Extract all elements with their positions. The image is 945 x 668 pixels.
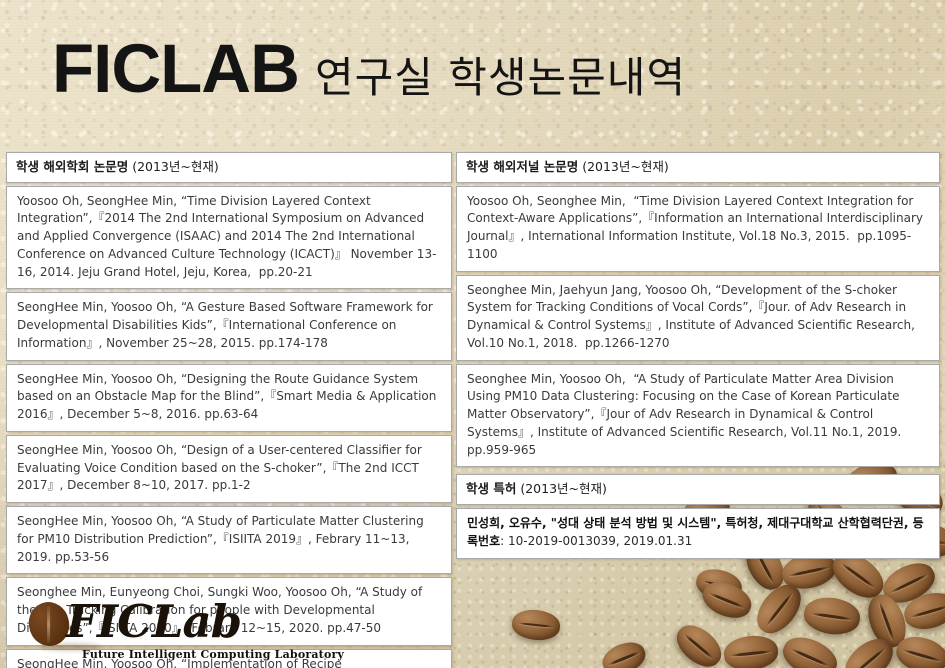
patent-header-label: 학생 특허	[466, 481, 516, 496]
journal-entry-text: Yoosoo Oh, Seonghee Min, “Time Division …	[467, 193, 930, 264]
table-row[interactable]: Yoosoo Oh, Seonghee Min, “Time Division …	[456, 186, 940, 272]
patent-header-period: (2013년~현재)	[516, 481, 607, 496]
conference-header-label: 학생 해외학회 논문명	[16, 159, 128, 174]
slide-canvas: FICLAB 연구실 학생논문내역 학생 해외학회 논문명 (2013년~현재)…	[0, 0, 945, 668]
journal-entry-text: Seonghee Min, Yoosoo Oh, “A Study of Par…	[467, 371, 930, 460]
patent-entry-number: : 10-2019-0013039, 2019.01.31	[500, 534, 692, 548]
conference-entry-text: SeongHee Min, Yoosoo Oh, “Design of a Us…	[17, 442, 442, 495]
table-row[interactable]: Yoosoo Oh, SeongHee Min, “Time Division …	[6, 186, 452, 290]
conference-entry-text: SeongHee Min, Yoosoo Oh, “Designing the …	[17, 371, 442, 424]
journal-section-header: 학생 해외저널 논문명 (2013년~현재)	[456, 152, 940, 183]
conference-entry-text: Yoosoo Oh, SeongHee Min, “Time Division …	[17, 193, 442, 282]
table-row[interactable]: SeongHee Min, Yoosoo Oh, “Designing the …	[6, 364, 452, 432]
table-row[interactable]: SeongHee Min, Yoosoo Oh, “Design of a Us…	[6, 435, 452, 503]
journal-header-period: (2013년~현재)	[578, 159, 669, 174]
logo-wordmark: FICLab	[66, 594, 241, 650]
journal-header-label: 학생 해외저널 논문명	[466, 159, 578, 174]
table-row[interactable]: Seonghee Min, Yoosoo Oh, “A Study of Par…	[456, 364, 940, 468]
conference-section-header: 학생 해외학회 논문명 (2013년~현재)	[6, 152, 452, 183]
table-row[interactable]: SeongHee Min, Yoosoo Oh, “A Gesture Base…	[6, 292, 452, 360]
table-row[interactable]: 민성희, 오유수, "성대 상태 분석 방법 및 시스템", 특허청, 제대구대…	[456, 508, 940, 559]
patent-section-header: 학생 특허 (2013년~현재)	[456, 474, 940, 505]
conference-header-period: (2013년~현재)	[128, 159, 219, 174]
slide-header: FICLAB 연구실 학생논문내역	[0, 34, 945, 124]
journal-entry-text: Seonghee Min, Jaehyun Jang, Yoosoo Oh, “…	[467, 282, 930, 353]
journal-and-patent-column: 학생 해외저널 논문명 (2013년~현재) Yoosoo Oh, Seongh…	[456, 152, 940, 562]
conference-entry-text: SeongHee Min, Yoosoo Oh, “A Study of Par…	[17, 513, 442, 566]
table-row[interactable]: SeongHee Min, Yoosoo Oh, “A Study of Par…	[6, 506, 452, 574]
logo-tagline: Future Intelligent Computing Laboratory	[82, 648, 344, 661]
table-row[interactable]: Seonghee Min, Jaehyun Jang, Yoosoo Oh, “…	[456, 275, 940, 361]
ficlab-logo: FICLab Future Intelligent Computing Labo…	[24, 596, 264, 660]
page-subtitle: 연구실 학생논문내역	[315, 57, 686, 99]
patent-entry-text: 민성희, 오유수, "성대 상태 분석 방법 및 시스템", 특허청, 제대구대…	[467, 515, 930, 551]
page-title: FICLAB	[52, 34, 299, 103]
conference-entry-text: SeongHee Min, Yoosoo Oh, “A Gesture Base…	[17, 299, 442, 352]
conference-papers-column: 학생 해외학회 논문명 (2013년~현재) Yoosoo Oh, SeongH…	[6, 152, 452, 668]
